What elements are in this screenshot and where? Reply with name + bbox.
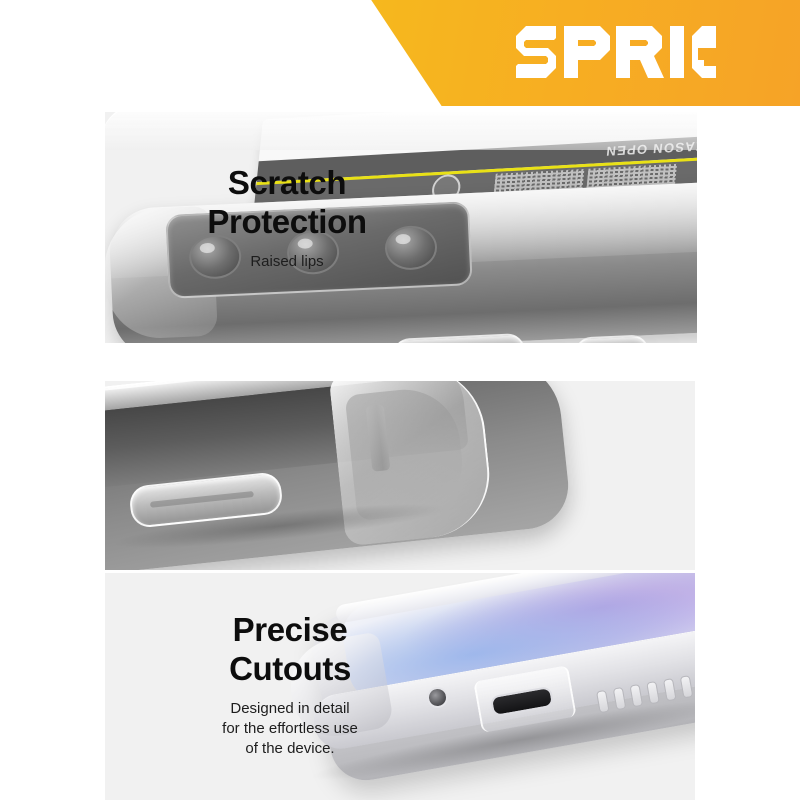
feature-subtitle: Designed in detail for the effortless us… xyxy=(155,699,425,758)
feature-panel-raised-bezel: Raised Bezel Raised edges protect the ph… xyxy=(105,381,695,570)
brand-banner xyxy=(0,0,800,106)
feature-subtitle: Raised lips xyxy=(162,252,412,272)
feature-title: Scratch Protection xyxy=(162,164,412,241)
case-raised-lip xyxy=(105,112,697,150)
feature-title: Precise Cutouts xyxy=(155,611,425,688)
feature-copy-scratch-protection: Scratch Protection Raised lips xyxy=(162,164,412,272)
feature-panel-precise-cutouts: Precise Cutouts Designed in detail for t… xyxy=(105,573,695,800)
feature-panel-scratch-protection: SEASON OPEN SEASON OPEN 10.02 LIVE A BET… xyxy=(105,112,697,343)
sprig-logo xyxy=(516,24,716,82)
volume-button-detail xyxy=(150,491,254,508)
marketing-page: SEASON OPEN SEASON OPEN 10.02 LIVE A BET… xyxy=(0,0,800,800)
feature-copy-precise-cutouts: Precise Cutouts Designed in detail for t… xyxy=(155,611,425,759)
photo-clear-case-corner xyxy=(105,381,695,570)
